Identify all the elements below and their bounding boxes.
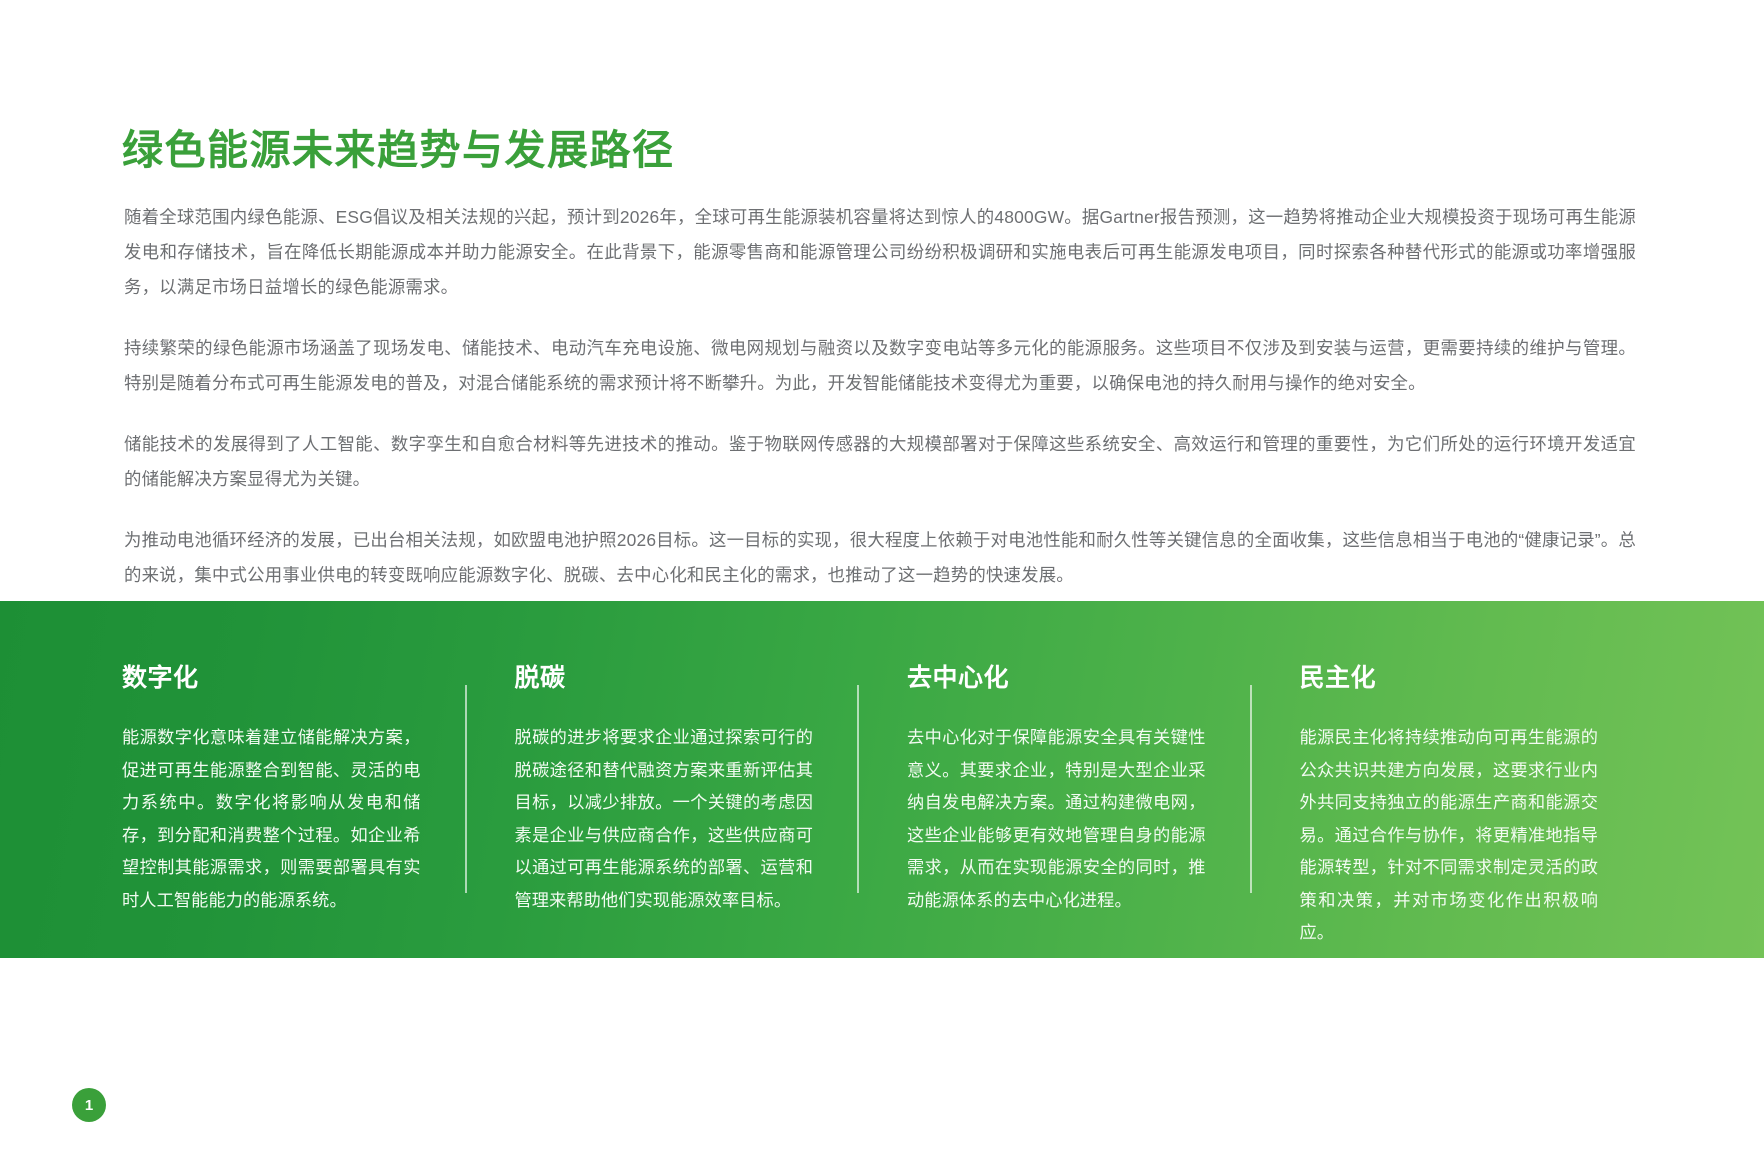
- paragraph-1: 随着全球范围内绿色能源、ESG倡议及相关法规的兴起，预计到2026年，全球可再生…: [124, 200, 1636, 305]
- card-text-digitalization: 能源数字化意味着建立储能解决方案，促进可再生能源整合到智能、灵活的电力系统中。数…: [122, 721, 421, 916]
- paragraph-2: 持续繁荣的绿色能源市场涵盖了现场发电、储能技术、电动汽车充电设施、微电网规划与融…: [124, 331, 1636, 401]
- highlight-card-decarbonization: 脱碳 脱碳的进步将要求企业通过探索可行的脱碳途径和替代融资方案来重新评估其目标，…: [465, 601, 858, 958]
- card-title-decentralization: 去中心化: [907, 663, 1206, 693]
- document-page: 绿色能源未来趋势与发展路径 随着全球范围内绿色能源、ESG倡议及相关法规的兴起，…: [0, 0, 1764, 1172]
- body-text-block: 随着全球范围内绿色能源、ESG倡议及相关法规的兴起，预计到2026年，全球可再生…: [124, 200, 1636, 593]
- paragraph-3: 储能技术的发展得到了人工智能、数字孪生和自愈合材料等先进技术的推动。鉴于物联网传…: [124, 427, 1636, 497]
- highlight-band: 数字化 能源数字化意味着建立储能解决方案，促进可再生能源整合到智能、灵活的电力系…: [0, 601, 1764, 958]
- card-text-decarbonization: 脱碳的进步将要求企业通过探索可行的脱碳途径和替代融资方案来重新评估其目标，以减少…: [515, 721, 814, 916]
- card-text-democratization: 能源民主化将持续推动向可再生能源的公众共识共建方向发展，这要求行业内外共同支持独…: [1300, 721, 1599, 949]
- card-title-democratization: 民主化: [1300, 663, 1599, 693]
- page-number-badge: 1: [72, 1088, 106, 1122]
- page-title: 绿色能源未来趋势与发展路径: [122, 125, 675, 176]
- highlight-card-decentralization: 去中心化 去中心化对于保障能源安全具有关键性意义。其要求企业，特别是大型企业采纳…: [857, 601, 1250, 958]
- card-text-decentralization: 去中心化对于保障能源安全具有关键性意义。其要求企业，特别是大型企业采纳自发电解决…: [907, 721, 1206, 916]
- highlight-card-list: 数字化 能源数字化意味着建立储能解决方案，促进可再生能源整合到智能、灵活的电力系…: [0, 601, 1764, 958]
- card-title-decarbonization: 脱碳: [515, 663, 814, 693]
- card-title-digitalization: 数字化: [122, 663, 421, 693]
- highlight-card-democratization: 民主化 能源民主化将持续推动向可再生能源的公众共识共建方向发展，这要求行业内外共…: [1250, 601, 1643, 958]
- highlight-card-digitalization: 数字化 能源数字化意味着建立储能解决方案，促进可再生能源整合到智能、灵活的电力系…: [122, 601, 465, 958]
- paragraph-4: 为推动电池循环经济的发展，已出台相关法规，如欧盟电池护照2026目标。这一目标的…: [124, 523, 1636, 593]
